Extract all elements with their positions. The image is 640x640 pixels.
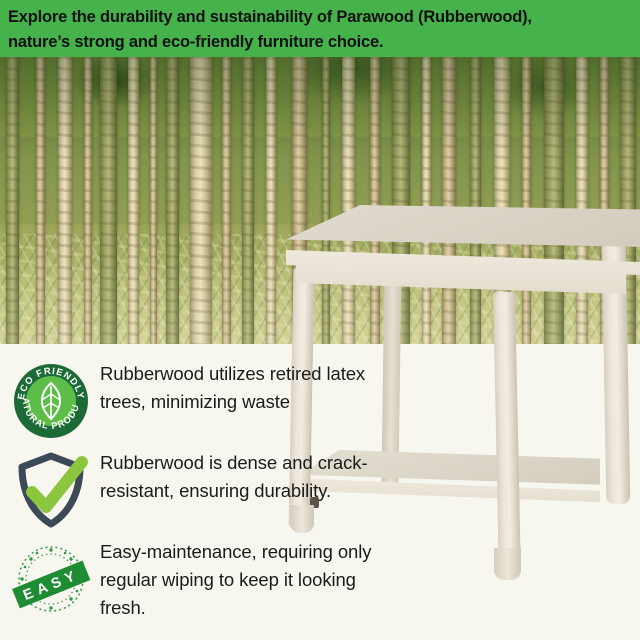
tree-trunk [522,57,531,344]
feature-list: ECO FRIENDLY NATURAL PRODUCT [0,352,430,640]
tree-trunk [58,57,72,344]
tree-trunk [242,57,254,344]
easy-stamp-icon: EASY [8,538,94,620]
tree-trunk [266,57,276,344]
tree-trunk [576,57,588,344]
eco-seal-text-ring: ECO FRIENDLY NATURAL PRODUCT [14,364,88,438]
tree-trunk [422,57,431,344]
feature-item: Rubberwood is dense and crack-resistant,… [8,449,428,531]
tree-trunk [342,57,355,344]
tree-trunk [6,57,19,344]
header-title-line-2: nature’s strong and eco-friendly furnitu… [8,30,632,55]
tree-trunk [470,57,481,344]
easy-stamp-graphic: EASY [9,540,93,618]
feature-item: ECO FRIENDLY NATURAL PRODUCT [8,360,428,442]
tree-trunk [190,57,212,344]
tree-trunk [100,57,117,344]
feature-item: EASY Easy-maintenance, requiring only re… [8,538,428,622]
tree-trunk [600,57,609,344]
tree-trunk [370,57,380,344]
tree-trunk [392,57,410,344]
eco-seal-top-text: ECO FRIENDLY [15,365,87,401]
eco-friendly-seal-icon: ECO FRIENDLY NATURAL PRODUCT [8,360,94,442]
forest-photo [0,57,640,344]
tree-trunk [84,57,92,344]
tree-trunk [442,57,456,344]
tree-trunk [322,57,330,344]
header-banner: Explore the durability and sustainabilit… [0,0,640,57]
tree-trunk [150,57,157,344]
shield-check-icon [8,449,94,531]
tree-trunk [620,57,636,344]
infographic-canvas: Explore the durability and sustainabilit… [0,0,640,640]
tree-trunk [292,57,307,344]
tree-trunk [36,57,45,344]
feature-text: Rubberwood utilizes retired latex trees,… [100,360,400,416]
header-title-line-1: Explore the durability and sustainabilit… [8,5,632,30]
tree-trunk [166,57,179,344]
tree-trunk [128,57,139,344]
tree-trunk [544,57,564,344]
tree-trunk [494,57,510,344]
tree-trunk [222,57,231,344]
feature-text: Easy-maintenance, requiring only regular… [100,538,400,622]
feature-text: Rubberwood is dense and crack-resistant,… [100,449,400,505]
shield-icon [11,450,91,530]
